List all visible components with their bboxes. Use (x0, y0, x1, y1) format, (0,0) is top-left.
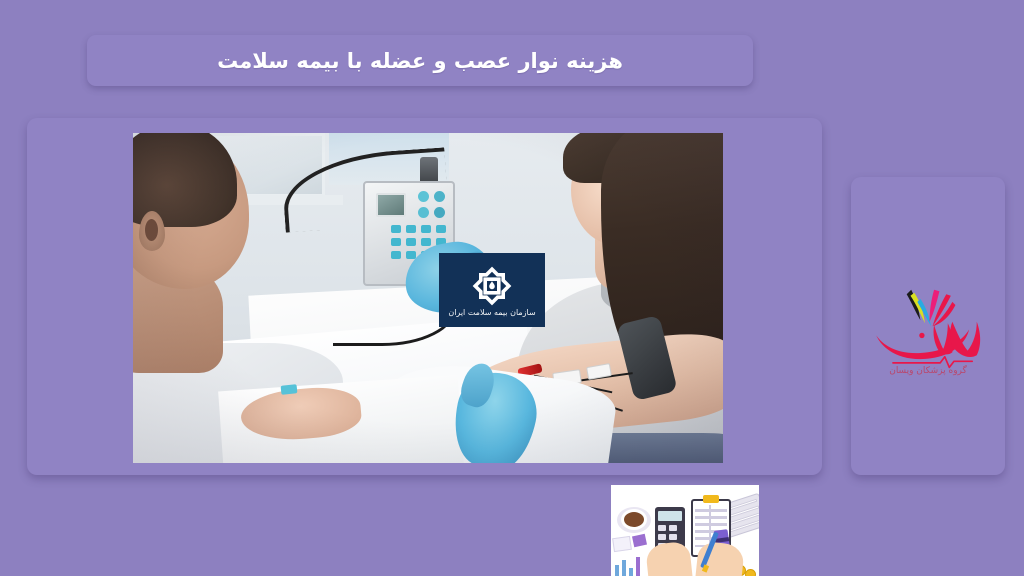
document-icon (612, 536, 632, 552)
article-photo (133, 133, 723, 463)
finance-cost-illustration (611, 485, 759, 576)
page-title: هزینه نوار عصب و عضله با بیمه سلامت (217, 49, 623, 73)
insurance-organization-logo: سازمان بیمه سلامت ایران (439, 253, 545, 327)
insurance-logo-label: سازمان بیمه سلامت ایران (448, 308, 535, 317)
calculator-display (658, 511, 682, 521)
coffee-cup-icon (621, 509, 647, 530)
photo-vignette (133, 133, 723, 463)
health-insurance-star-icon (472, 266, 512, 306)
main-content-card: سازمان بیمه سلامت ایران (27, 118, 822, 475)
visan-tagline: گروه پزشکان ویسان (889, 366, 967, 376)
sidebar-logo-card: گروه پزشکان ویسان (851, 177, 1005, 475)
clipboard-clip (703, 495, 719, 503)
visan-brand-logo: گروه پزشکان ویسان (851, 177, 1005, 475)
page-root: هزینه نوار عصب و عضله با بیمه سلامت (0, 0, 1024, 576)
visan-logo-icon (867, 276, 989, 372)
coin-icon (745, 569, 756, 576)
header-banner: هزینه نوار عصب و عضله با بیمه سلامت (87, 35, 753, 86)
